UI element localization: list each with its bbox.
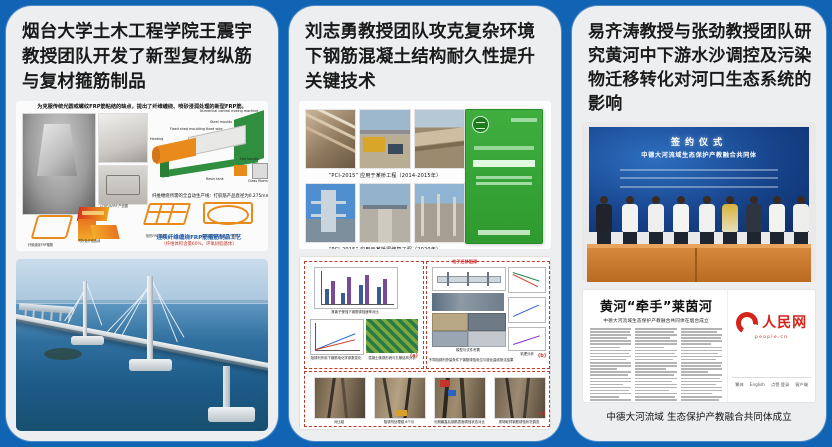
machine-label-1: Steel moulds	[210, 120, 232, 124]
card-yantai-frp: 烟台大学土木工程学院王震宇教授团队开发了新型复材纵筋与复材箍筋制品 为克服传统光…	[6, 6, 278, 441]
photo-grid-caption-top: “PCI-2015” 应用于某桥工程（2014-2015年）	[305, 172, 465, 179]
rebar-photo	[374, 377, 426, 419]
nav-item-2[interactable]: 点赞 登录	[771, 382, 789, 388]
frp-winding-photo	[22, 113, 96, 215]
attendee-legs	[623, 232, 637, 244]
research-poster: 氯离子侵蚀下钢筋锈蚀速率对比 阻锈剂作用下钢筋电化学参数变化 混凝土微观形貌与孔…	[299, 256, 551, 430]
panel-b-tag: (b)	[538, 353, 546, 359]
photo-grid-caption-bottom: “PCI-2015” 应用于某桥梁修复工程（2020年）	[305, 246, 465, 249]
card-yi-zhang-yellow-river: 易齐涛教授与张劲教授团队研究黄河中下游水沙调控及污染物迁移转化对河口生态系统的影…	[572, 6, 826, 441]
photo-grid: “PCI-2015” 应用于某桥工程（2014-2015年）	[305, 109, 465, 249]
book-title-en-1	[476, 176, 532, 179]
bridge-photo	[16, 259, 268, 431]
photo-cell	[359, 109, 410, 169]
rebar-photo	[314, 377, 366, 419]
card-liu-durability: 刘志勇教授团队攻克复杂环境下钢筋混凝土结构耐久性提升关键技术	[289, 6, 561, 441]
poster-footer-title: 连续纤维缠绕FRP筋箍筋制品工艺	[136, 233, 262, 241]
people-cn-mark-icon	[736, 312, 758, 334]
attendee	[622, 196, 638, 244]
panel-b-specimen-2	[468, 313, 506, 331]
attendee-legs	[597, 232, 611, 244]
panel-a-line-chart	[310, 319, 364, 355]
attendee-head	[626, 196, 634, 204]
photo-cell	[305, 183, 356, 243]
photo-cell	[359, 183, 410, 243]
book-title-text	[473, 160, 535, 167]
left-photo-caption: 纤维缠绕FRP箍筋	[28, 242, 53, 247]
attendee-legs	[674, 232, 688, 244]
rebar-photo	[434, 377, 486, 419]
newspaper-clipping: 黄河“牵手”莱茵河 中德大河流域生态保护产教融合共同体在烟台成立	[582, 289, 816, 403]
people-cn-panel: 人民网 people.cn 繁体 English 点赞 登录 客户端	[728, 290, 815, 402]
attendee-body	[596, 204, 612, 232]
ceremony-banner-rule	[620, 169, 778, 171]
people-cn-domain: people.cn	[734, 335, 809, 340]
newspaper-column	[681, 328, 722, 403]
nav-item-3[interactable]: 客户端	[795, 382, 808, 388]
machine-label-2: Fixed shed moulding fixed wire	[170, 127, 223, 131]
panel-b-label-0: 电子迁移阻滞	[452, 259, 477, 265]
panel-c-caption-0: 对比组	[314, 419, 364, 424]
machine-orange-unit	[156, 138, 196, 165]
ceremony-banner-rule	[620, 177, 778, 179]
people-cn-logo[interactable]: 人民网	[734, 312, 809, 334]
attendee-body	[699, 204, 715, 232]
attendee-body	[622, 204, 638, 232]
bridge-pylon	[147, 276, 153, 359]
pultrusion-line-diagram: Numerical control mixing machine Steel m…	[148, 111, 268, 191]
panel-b-specimen-1	[432, 313, 468, 331]
standard-book-cover	[465, 109, 543, 244]
panel-b-curve-2	[508, 297, 546, 323]
bridge-horizon	[16, 300, 268, 303]
machine-label-6: Glass fibers	[248, 179, 268, 183]
bridge-pier-base	[208, 407, 256, 422]
bridge-pylon	[83, 281, 87, 339]
panel-c-tag: (c)	[538, 411, 546, 417]
newspaper-headline: 黄河“牵手”莱茵河	[590, 296, 722, 315]
attendee	[793, 196, 809, 244]
oval-stirrup	[202, 201, 254, 233]
attendee-body	[673, 204, 689, 232]
attendee-head	[677, 196, 685, 204]
panel-b-site-photo	[432, 293, 504, 311]
machine-label-0: Numerical control mixing machine	[200, 109, 258, 113]
photo-row-bottom	[305, 183, 465, 243]
attendee	[596, 196, 612, 244]
attendee	[769, 196, 785, 244]
book-publisher	[478, 230, 530, 235]
people-cn-name: 人民网	[762, 316, 807, 330]
application-photos-and-book: “PCI-2015” 应用于某桥工程（2014-2015年）	[299, 101, 551, 249]
bridge-pier-base	[71, 336, 104, 345]
attendee-legs	[794, 232, 808, 244]
glass-fiber-spool	[252, 163, 268, 179]
attendee-body	[769, 204, 785, 232]
poster-footer: 连续纤维缠绕FRP筋箍筋制品工艺 （纤维体积含量60%，环氧树脂基体）	[136, 233, 262, 247]
bridge-approach-span	[18, 304, 74, 315]
attendee	[746, 196, 762, 244]
attendee-body	[722, 204, 738, 232]
newspaper-column	[590, 328, 631, 403]
frp-specimen-photo	[98, 113, 148, 163]
frp-ring-sample	[28, 211, 72, 241]
attendee-head	[600, 196, 608, 204]
panel-a-caption-1: 阻锈剂作用下钢筋电化学参数变化	[308, 355, 364, 360]
panel-c-caption-1: 阻锈剂处理组 6个月	[374, 419, 424, 424]
card-3-media: 签约仪式 中德大河流域生态保护产教融合共同体	[582, 122, 816, 423]
attendee-body	[793, 204, 809, 232]
poster-footer-sub: （纤维体积含量60%，环氧树脂基体）	[136, 241, 262, 247]
card-1-title: 烟台大学土木工程学院王震宇教授团队开发了新型复材纵筋与复材箍筋制品	[6, 6, 278, 101]
heat-caption: 弯折处纤维连续	[78, 238, 100, 243]
panel-b-curve-1	[508, 267, 546, 293]
attendee-head	[750, 196, 758, 204]
newspaper-column	[635, 328, 676, 403]
panel-a-bar-chart	[314, 267, 398, 309]
machine-caption: 纤维缠绕所需的全自动生产线：打胶筋产品直径为0.275mm	[148, 193, 268, 199]
photo-cell	[414, 183, 465, 243]
attendee	[699, 196, 715, 244]
panel-b-schematic	[432, 267, 506, 291]
ceremony-banner-rule	[620, 186, 778, 188]
panel-c-caption-3: 现场取样钢筋锈蚀状况调查	[494, 419, 544, 424]
panel-b-sub: 不同阻锈剂掺量条件下钢筋锈蚀电位与极化曲线测试结果	[428, 357, 514, 362]
panel-a-sem-image	[366, 319, 418, 353]
poster-stage: 烟台大学土木工程学院王震宇教授团队开发了新型复材纵筋与复材箍筋制品 为克服传统光…	[0, 0, 832, 447]
newspaper-columns	[590, 328, 722, 403]
ceremony-banner-subtitle: 中德大河流域生态保护产教融合共同体	[589, 150, 809, 159]
photo-row-top	[305, 109, 465, 169]
book-series-text	[474, 146, 534, 150]
book-series-band	[511, 118, 537, 122]
panel-b-specimen-3	[432, 331, 468, 347]
attendee-head	[797, 196, 805, 204]
machine-label-4: Resin tank	[206, 177, 224, 181]
attendee-head	[703, 196, 711, 204]
ceremony-banner-title: 签约仪式	[589, 135, 809, 148]
bridge-pier	[223, 366, 230, 411]
newspaper-article: 黄河“牵手”莱茵河 中德大河流域生态保护产教融合共同体在烟台成立	[583, 290, 728, 402]
panel-b-specimen-4	[468, 331, 506, 347]
panel-a-tag: (a)	[410, 353, 418, 359]
attendee	[722, 196, 738, 244]
frp-process-poster: 为克服传统光圆或螺纹FRP筋粘结的缺点，提出了纤维缠绕、喷砂浸润处理的新型FRP…	[16, 101, 268, 251]
attendee-head	[652, 196, 660, 204]
panel-b-caption: 模型与试件布置	[432, 347, 504, 352]
panel-a-caption-0: 氯离子侵蚀下钢筋锈蚀速率对比	[314, 309, 396, 314]
rect-stirrup-grid	[144, 201, 190, 233]
frp-stirrup-photo	[98, 165, 148, 205]
attendee-legs	[700, 232, 714, 244]
attendee-body	[648, 204, 664, 232]
attendee-legs	[649, 232, 663, 244]
card-2-title: 刘志勇教授团队攻克复杂环境下钢筋混凝土结构耐久性提升关键技术	[289, 6, 561, 101]
attendee-legs	[747, 232, 761, 244]
attendee	[648, 196, 664, 244]
attendee-legs	[723, 232, 737, 244]
photo-cell	[305, 109, 356, 169]
newspaper-subhead: 中德大河流域生态保护产教融合共同体在烟台成立	[590, 318, 722, 324]
attendee-head	[726, 196, 734, 204]
machine-resin-roll	[152, 147, 160, 163]
panel-c-caption-2: 长期暴露后钢筋表面锈蚀状态对比	[434, 419, 484, 424]
attendee-legs	[770, 232, 784, 244]
nav-item-0[interactable]: 繁体	[735, 382, 743, 388]
attendee	[673, 196, 689, 244]
card-3-caption: 中德大河流域 生态保护产教融合共同体成立	[582, 409, 816, 423]
nav-item-1[interactable]: English	[750, 382, 765, 388]
association-logo-icon	[472, 116, 489, 133]
machine-orange-block	[234, 165, 247, 176]
attendee-head	[773, 196, 781, 204]
book-title-en-2	[476, 182, 532, 185]
ceremony-table	[587, 244, 812, 282]
bridge-island	[44, 348, 82, 360]
people-cn-nav[interactable]: 繁体 English 点赞 登录 客户端	[732, 377, 811, 388]
panel-b-curve-3	[508, 327, 546, 351]
card-1-media: 为克服传统光圆或螺纹FRP筋粘结的缺点，提出了纤维缠绕、喷砂浸润处理的新型FRP…	[16, 101, 268, 431]
attendee-body	[746, 204, 762, 232]
machine-label-5: Hot handle	[240, 157, 259, 161]
bridge-pier-base	[129, 359, 172, 371]
photo-cell	[414, 109, 465, 169]
signing-ceremony-photo: 签约仪式 中德大河流域生态保护产教融合共同体	[582, 122, 816, 282]
card-3-title: 易齐涛教授与张劲教授团队研究黄河中下游水沙调控及污染物迁移转化对河口生态系统的影…	[572, 6, 826, 122]
card-2-media: “PCI-2015” 应用于某桥工程（2014-2015年）	[299, 101, 551, 430]
machine-label-3: Heating	[150, 137, 163, 141]
